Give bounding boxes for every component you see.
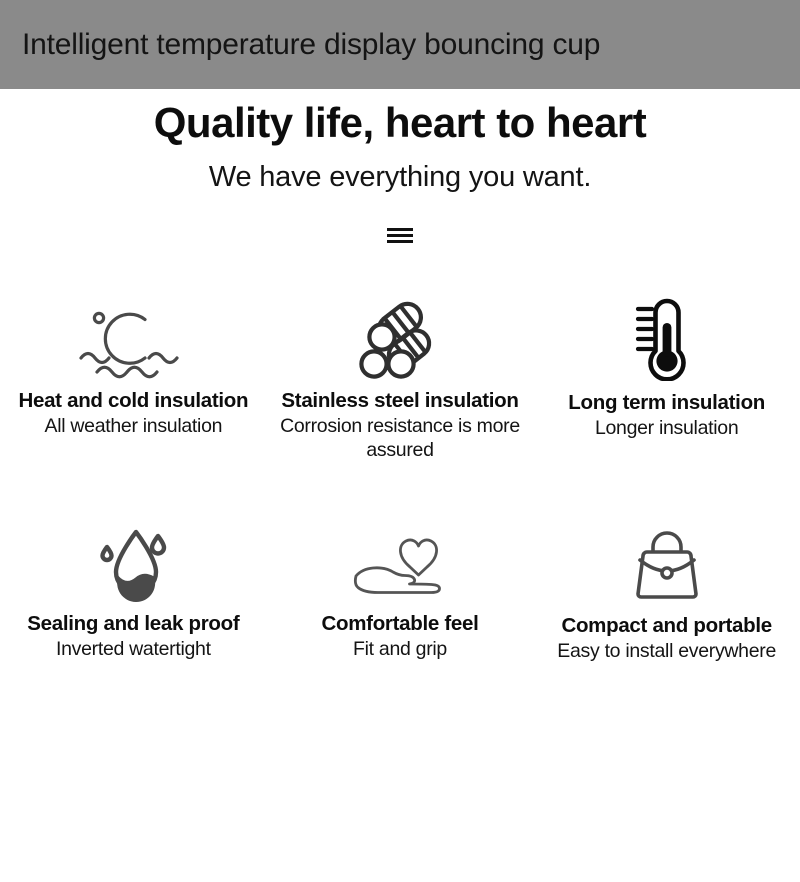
feature-grid-row-two: Sealing and leak proof Inverted watertig… [0, 462, 800, 664]
feature-description: Easy to install everywhere [557, 638, 776, 663]
feature-description: Inverted watertight [56, 636, 211, 661]
feature-title: Heat and cold insulation [18, 389, 248, 413]
divider-bar [387, 234, 413, 237]
feature-title: Stainless steel insulation [281, 389, 518, 413]
feature-heat-and-cold-insulation: Heat and cold insulation All weather ins… [0, 295, 267, 462]
divider-bar [387, 228, 413, 231]
thermometer-icon [628, 295, 706, 381]
divider-bar [387, 240, 413, 243]
feature-title: Long term insulation [568, 391, 765, 415]
feature-description: All weather insulation [44, 413, 222, 438]
feature-description: Fit and grip [353, 636, 447, 661]
feature-stainless-steel-insulation: Stainless steel insulation Corrosion res… [267, 295, 534, 462]
handbag-icon [625, 520, 709, 604]
hero-section: Quality life, heart to heart We have eve… [0, 89, 800, 194]
three-bars-divider-icon [0, 194, 800, 243]
feature-grid-row-one: Heat and cold insulation All weather ins… [0, 243, 800, 462]
feature-sealing-and-leak-proof: Sealing and leak proof Inverted watertig… [0, 520, 267, 664]
feature-title: Compact and portable [561, 614, 771, 638]
degree-celsius-waves-icon [75, 295, 191, 381]
water-droplet-icon [92, 520, 174, 604]
page-banner: Intelligent temperature display bouncing… [0, 0, 800, 89]
page-subtitle: We have everything you want. [0, 147, 800, 194]
stacked-steel-tubes-icon [357, 295, 443, 381]
hand-holding-heart-icon [348, 520, 452, 604]
feature-title: Sealing and leak proof [27, 612, 239, 636]
feature-comfortable-feel: Comfortable feel Fit and grip [267, 520, 534, 664]
page-title: Quality life, heart to heart [0, 99, 800, 147]
feature-compact-and-portable: Compact and portable Easy to install eve… [533, 520, 800, 664]
banner-title: Intelligent temperature display bouncing… [22, 30, 600, 60]
feature-long-term-insulation: Long term insulation Longer insulation [533, 295, 800, 462]
feature-title: Comfortable feel [322, 612, 479, 636]
feature-description: Longer insulation [595, 415, 738, 440]
feature-description: Corrosion resistance is more assured [271, 413, 530, 462]
